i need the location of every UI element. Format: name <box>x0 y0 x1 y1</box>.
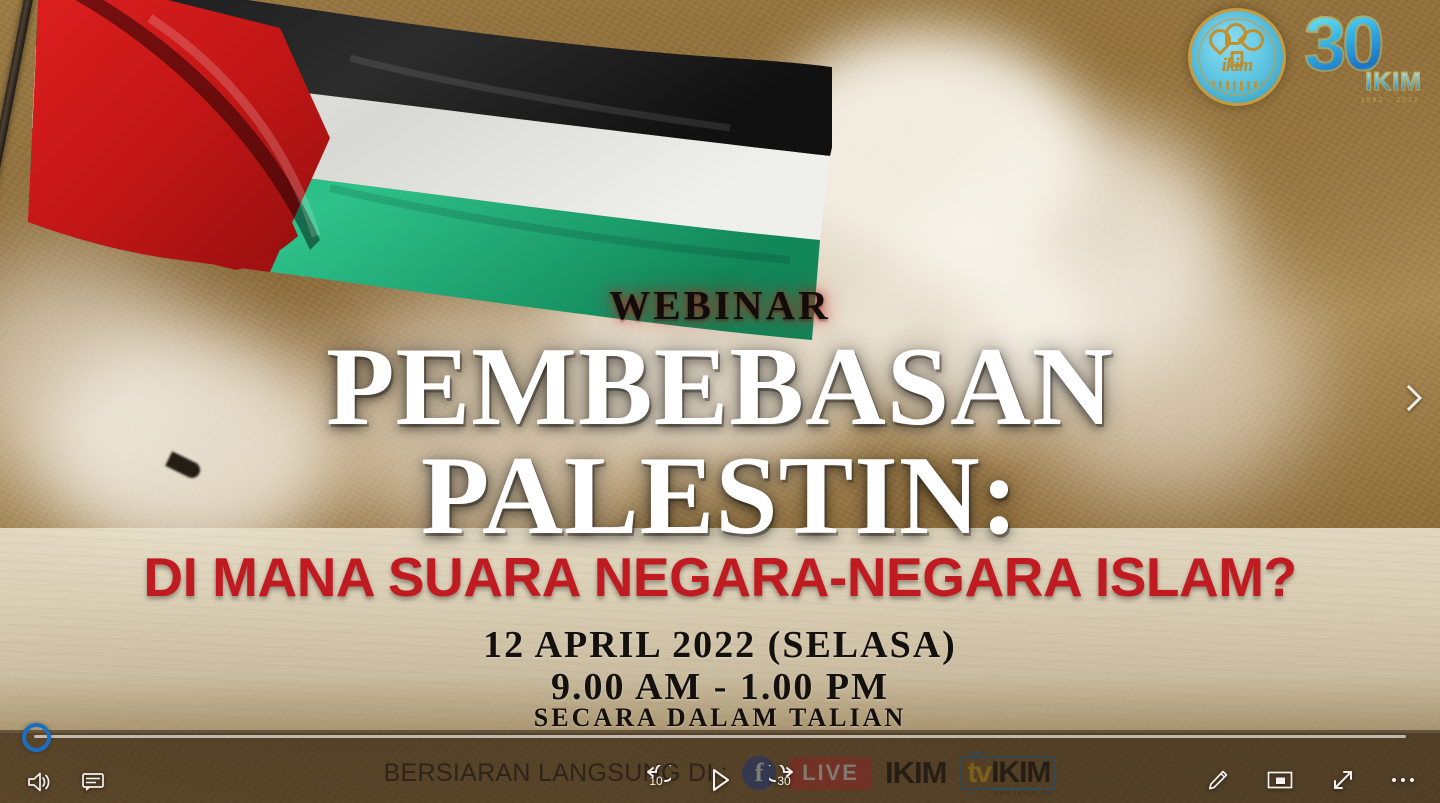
seal-mark-text: ikim <box>1222 55 1253 77</box>
slide-subtitle: DI MANA SUARA NEGARA-NEGARA ISLAM? <box>0 545 1440 609</box>
video-player[interactable]: WEBINAR PEMBEBASAN PALESTIN: DI MANA SUA… <box>0 0 1440 803</box>
player-control-bar[interactable]: 0:00:00 0:13:48 <box>0 730 1440 803</box>
forward-30-button[interactable]: 30 <box>769 765 799 795</box>
play-icon <box>707 766 733 794</box>
more-options-icon[interactable] <box>1392 778 1414 782</box>
captions-icon[interactable] <box>80 771 106 793</box>
anniversary-brand: IKIM <box>1365 70 1422 95</box>
event-date: 12 APRIL 2022 (SELASA) <box>0 623 1440 667</box>
webinar-kicker: WEBINAR <box>0 281 1440 329</box>
forward-seconds-label: 30 <box>777 774 790 788</box>
next-slide-button[interactable] <box>1398 378 1432 418</box>
rewind-10-button[interactable]: 10 <box>641 765 671 795</box>
ikim-seal-logo: ikim <box>1188 8 1286 106</box>
picture-in-picture-icon[interactable] <box>1266 769 1294 791</box>
fullscreen-icon[interactable] <box>1330 767 1356 793</box>
title-line-1: PEMBEBASAN <box>0 331 1440 443</box>
pencil-icon[interactable] <box>1206 768 1230 792</box>
seek-bar-track[interactable] <box>34 735 1406 738</box>
seal-arabic-script <box>1198 81 1276 96</box>
title-line-2: PALESTIN: <box>0 440 1440 552</box>
play-button[interactable] <box>707 766 733 794</box>
seek-bar-row[interactable] <box>0 725 1440 747</box>
anniversary-years: 1992 - 2022 <box>1361 97 1420 104</box>
seek-bar-handle[interactable] <box>22 723 51 752</box>
volume-icon[interactable] <box>26 771 52 793</box>
anniversary-logo: 30 IKIM 1992 - 2022 <box>1304 11 1424 103</box>
chevron-right-icon <box>1405 383 1425 413</box>
corner-logos: ikim 30 IKIM 1992 - 2022 <box>1188 8 1424 106</box>
playback-controls-group: 10 30 <box>641 765 799 795</box>
rewind-seconds-label: 10 <box>649 774 662 788</box>
right-controls-group <box>1206 767 1414 793</box>
left-controls-group <box>26 771 106 793</box>
